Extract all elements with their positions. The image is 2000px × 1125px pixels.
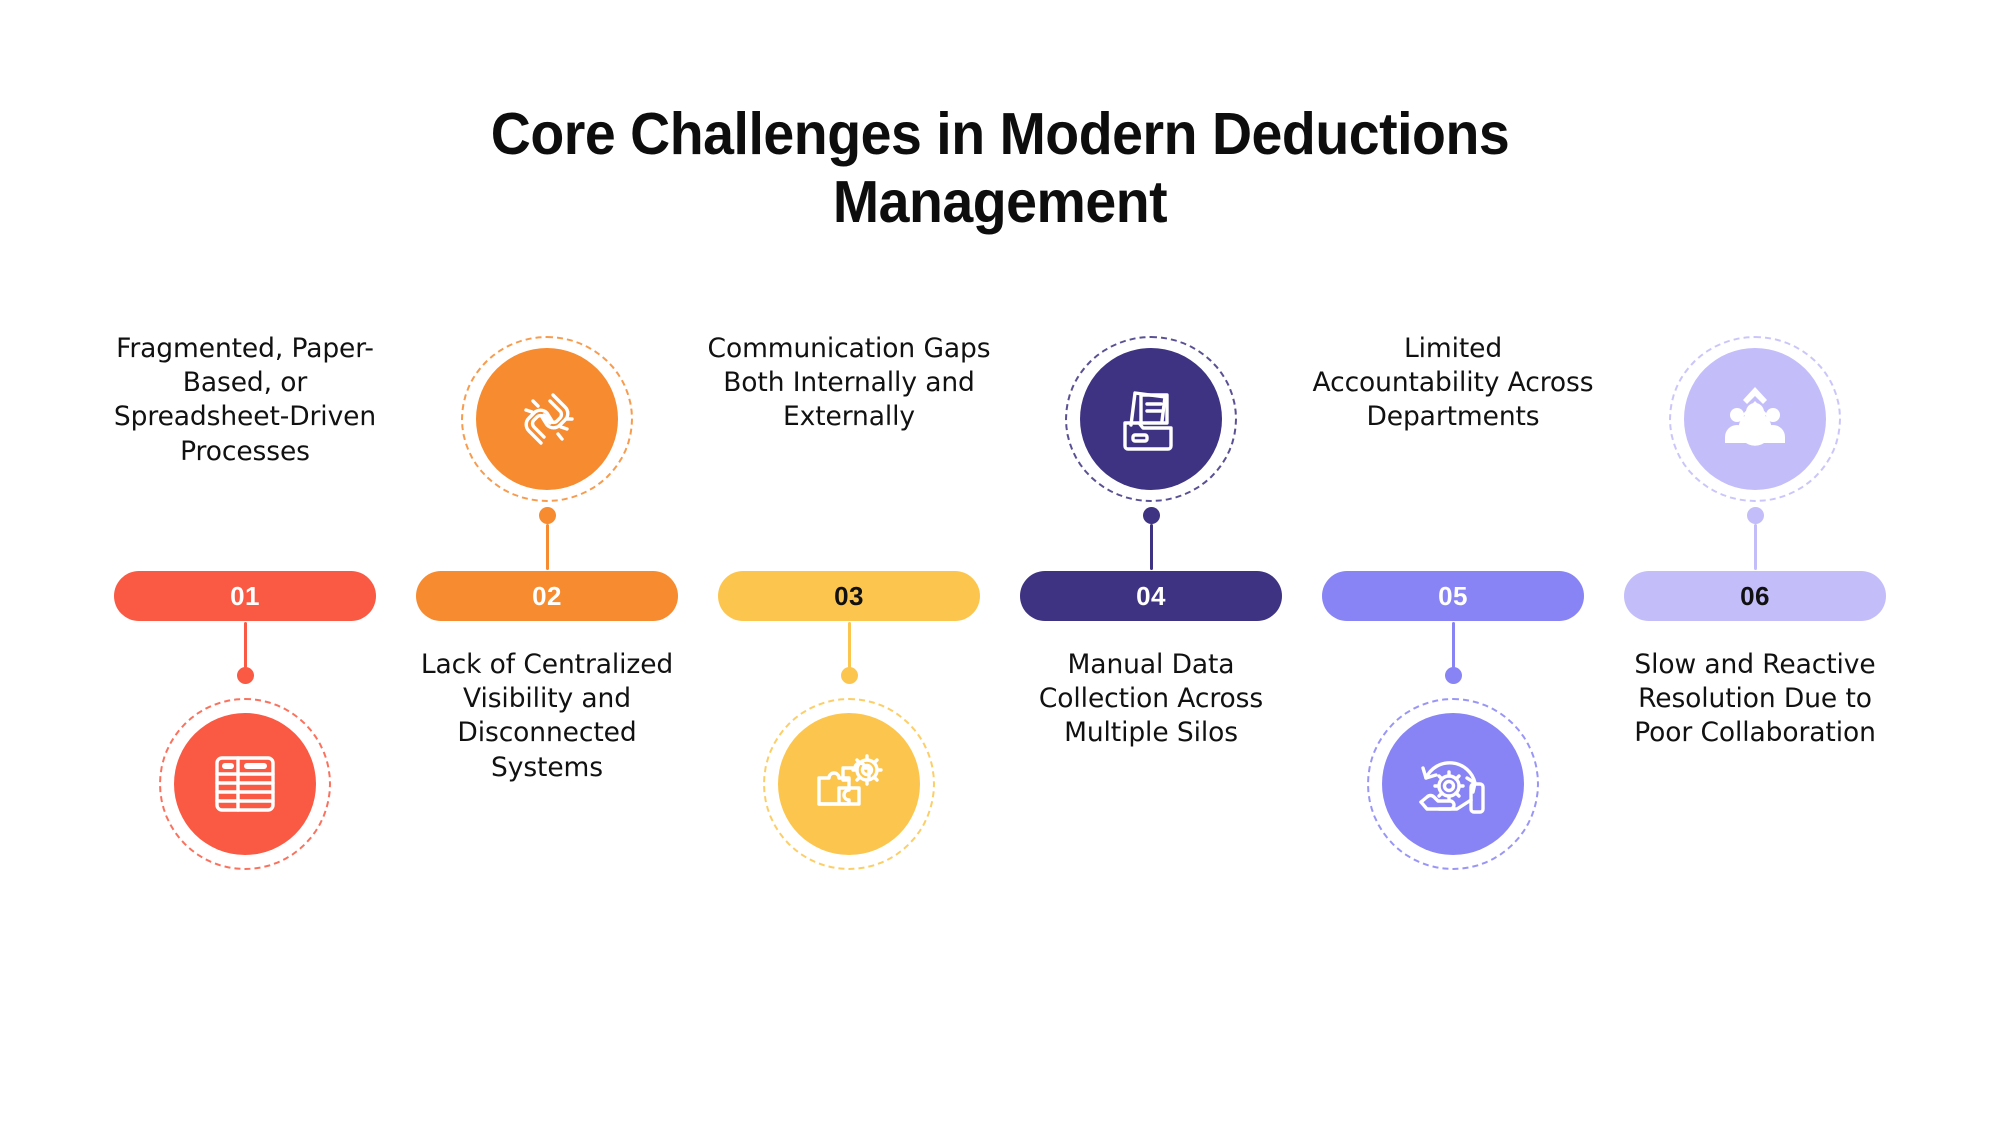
- column-bottom-zone: [1304, 622, 1602, 952]
- connector-wrap: [1445, 622, 1462, 684]
- connector-wrap: [237, 622, 254, 684]
- step-number-badge[interactable]: 05: [1322, 571, 1584, 621]
- column-top-zone: Limited Accountability Across Department…: [1304, 330, 1602, 570]
- icon-badge[interactable]: [763, 698, 935, 870]
- icon-badge[interactable]: [159, 698, 331, 870]
- page-title: Core Challenges in Modern Deductions Man…: [445, 100, 1554, 237]
- infographic-slide: Core Challenges in Modern Deductions Man…: [0, 0, 2000, 1125]
- challenge-caption: Slow and Reactive Resolution Due to Poor…: [1610, 648, 1900, 751]
- connector-dot: [1445, 667, 1462, 684]
- connector-wrap: [1143, 508, 1160, 570]
- challenge-column-01: Fragmented, Paper-Based, or Spreadsheet-…: [96, 330, 394, 980]
- connector-stem: [848, 622, 851, 668]
- connector-dot: [1143, 507, 1160, 524]
- connector-wrap: [1747, 508, 1764, 570]
- connector-wrap: [841, 622, 858, 684]
- dashed-ring: [159, 698, 331, 870]
- column-top-zone: [1606, 330, 1904, 570]
- column-top-zone: [1002, 330, 1300, 570]
- dashed-ring: [461, 336, 633, 502]
- icon-badge[interactable]: [1065, 336, 1237, 502]
- connector-stem: [1452, 622, 1455, 668]
- column-top-zone: [398, 330, 696, 570]
- connector-dot: [1747, 507, 1764, 524]
- challenge-columns: Fragmented, Paper-Based, or Spreadsheet-…: [96, 330, 1904, 980]
- challenge-column-04: 04Manual Data Collection Across Multiple…: [1002, 330, 1300, 980]
- title-container: Core Challenges in Modern Deductions Man…: [0, 100, 2000, 237]
- challenge-column-03: Communication Gaps Both Internally and E…: [700, 330, 998, 980]
- connector-stem: [244, 622, 247, 668]
- column-top-zone: Communication Gaps Both Internally and E…: [700, 330, 998, 570]
- connector-dot: [539, 507, 556, 524]
- challenge-caption: Communication Gaps Both Internally and E…: [704, 332, 994, 435]
- badge-row: 01: [96, 570, 394, 622]
- icon-badge[interactable]: [1367, 698, 1539, 870]
- icon-badge[interactable]: [1669, 336, 1841, 502]
- dashed-ring: [763, 698, 935, 870]
- dashed-ring: [1065, 336, 1237, 502]
- dashed-ring: [1669, 336, 1841, 502]
- connector-stem: [546, 524, 549, 570]
- connector-dot: [841, 667, 858, 684]
- challenge-caption: Manual Data Collection Across Multiple S…: [1006, 648, 1296, 751]
- challenge-column-06: 06Slow and Reactive Resolution Due to Po…: [1606, 330, 1904, 980]
- dashed-ring: [1367, 698, 1539, 870]
- badge-row: 05: [1304, 570, 1602, 622]
- challenge-column-02: 02Lack of Centralized Visibility and Dis…: [398, 330, 696, 980]
- badge-row: 02: [398, 570, 696, 622]
- connector-stem: [1754, 524, 1757, 570]
- column-bottom-zone: Lack of Centralized Visibility and Disco…: [398, 622, 696, 952]
- challenge-caption: Limited Accountability Across Department…: [1308, 332, 1598, 435]
- challenge-column-05: Limited Accountability Across Department…: [1304, 330, 1602, 980]
- column-bottom-zone: [700, 622, 998, 952]
- column-bottom-zone: [96, 622, 394, 952]
- step-number-badge[interactable]: 02: [416, 571, 678, 621]
- challenge-caption: Lack of Centralized Visibility and Disco…: [402, 648, 692, 785]
- step-number-badge[interactable]: 01: [114, 571, 376, 621]
- icon-badge[interactable]: [461, 336, 633, 502]
- challenge-caption: Fragmented, Paper-Based, or Spreadsheet-…: [100, 332, 390, 469]
- badge-row: 03: [700, 570, 998, 622]
- step-number-badge[interactable]: 06: [1624, 571, 1886, 621]
- step-number-badge[interactable]: 03: [718, 571, 980, 621]
- connector-stem: [1150, 524, 1153, 570]
- connector-dot: [237, 667, 254, 684]
- step-number-badge[interactable]: 04: [1020, 571, 1282, 621]
- badge-row: 06: [1606, 570, 1904, 622]
- column-bottom-zone: Slow and Reactive Resolution Due to Poor…: [1606, 622, 1904, 952]
- column-top-zone: Fragmented, Paper-Based, or Spreadsheet-…: [96, 330, 394, 570]
- column-bottom-zone: Manual Data Collection Across Multiple S…: [1002, 622, 1300, 952]
- badge-row: 04: [1002, 570, 1300, 622]
- connector-wrap: [539, 508, 556, 570]
